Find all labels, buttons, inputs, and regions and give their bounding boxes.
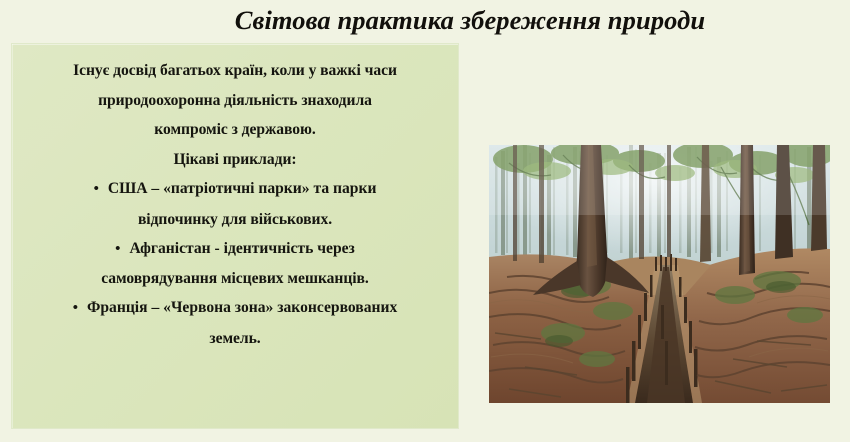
bullet-icon: • (73, 300, 78, 316)
list-item: •США – «патріотичні парки» та парки (24, 174, 446, 205)
list-item: •Франція – «Червона зона» законсервовани… (24, 293, 446, 324)
list-item-label: Франція – «Червона зона» законсервованих (87, 299, 397, 316)
page-title: Світова практика збереження природи (120, 4, 820, 36)
intro-line-3: компроміс з державою. (24, 115, 446, 145)
slide-root: Світова практика збереження природи Існу… (0, 0, 850, 442)
bullet-icon: • (115, 241, 120, 257)
bullet-icon: • (94, 181, 99, 197)
examples-heading: Цікаві приклади: (24, 145, 446, 175)
list-item-label: США – «патріотичні парки» та парки (108, 180, 377, 197)
list-item-label: Афганістан - ідентичність через (129, 240, 354, 257)
forest-trench-photo (489, 145, 830, 403)
content-panel: Існує досвід багатьох країн, коли у важк… (12, 44, 458, 428)
forest-trench-illustration (489, 145, 830, 403)
list-item-continuation: самоврядування місцевих мешканців. (24, 264, 446, 293)
list-item: •Афганістан - ідентичність через (24, 234, 446, 265)
intro-line-1: Існує досвід багатьох країн, коли у важк… (24, 56, 446, 86)
list-item-continuation: відпочинку для військових. (24, 205, 446, 234)
list-item-continuation: земель. (24, 324, 446, 353)
content-panel-body: Існує досвід багатьох країн, коли у важк… (20, 50, 450, 422)
intro-line-2: природоохоронна діяльність знаходила (24, 86, 446, 116)
